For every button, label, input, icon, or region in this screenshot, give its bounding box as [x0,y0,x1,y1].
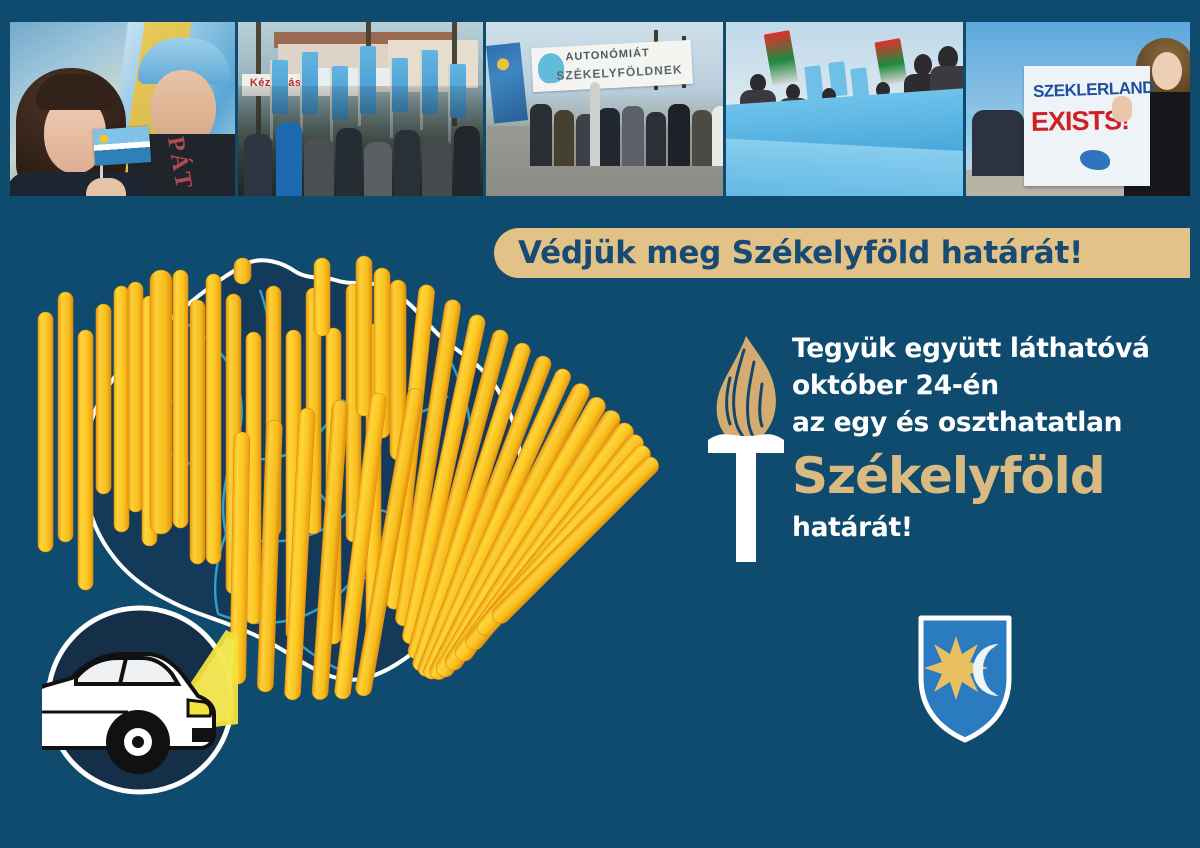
torch-handle [736,448,756,562]
torch-icon [700,332,792,564]
message-block: Tegyük együtt láthatóvá október 24-én az… [792,330,1192,546]
photo-szeklerland-exists: SZEKLERLAND EXISTS! [966,22,1200,196]
photo-crowd-with-blue-flags: Kézdivásárhely [238,22,483,196]
szekler-flag-icon [93,126,151,166]
photo3-banner-line2: SZÉKELYFÖLDNEK [556,62,683,83]
car-with-headlight-icon [42,592,238,808]
message-line-4: határát! [792,509,1192,546]
torch-flame [717,336,776,445]
sign-line1: SZEKLERLAND [1033,78,1155,102]
photo-strip: PÁT Kézdivásárhely [0,22,1200,196]
poster-root: PÁT Kézdivásárhely [0,0,1200,848]
szekler-coat-of-arms-icon [915,612,1015,744]
photo-march-with-banner: AUTONÓMIÁT SZÉKELYFÖLDNEK [486,22,724,196]
message-line-3: az egy és oszthatatlan [792,404,1192,441]
photo3-banner-line1: AUTONÓMIÁT [565,47,650,63]
photo-girl-with-flag: PÁT [0,22,235,196]
message-line-2: október 24-én [792,367,1192,404]
candles-right-fan [385,284,662,683]
protest-sign: SZEKLERLAND EXISTS! [1024,66,1150,186]
message-highlight: Székelyföld [792,445,1192,507]
message-line-1: Tegyük együtt láthatóvá [792,330,1192,367]
photo-long-blue-flag [726,22,963,196]
